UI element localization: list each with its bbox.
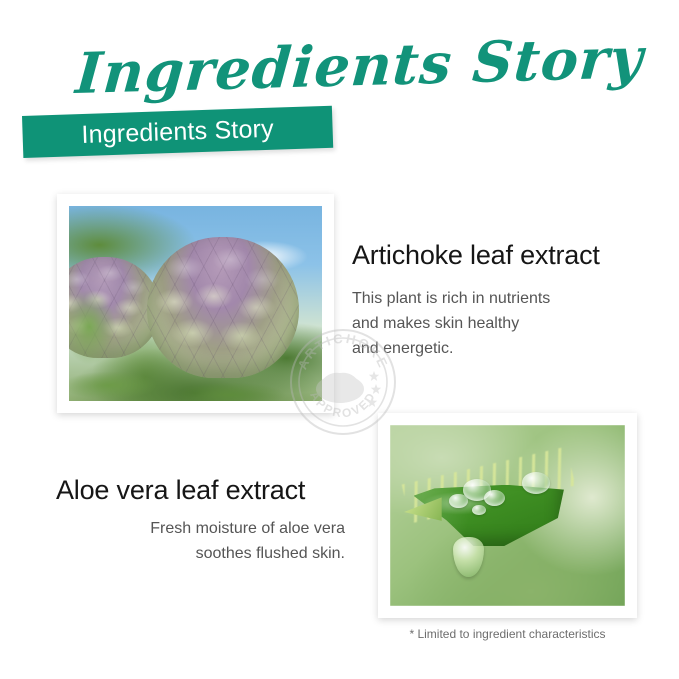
- aloe-photo: [390, 425, 625, 606]
- water-droplet: [449, 494, 468, 508]
- page-title-script: Ingredients Story: [73, 22, 509, 114]
- banner-label: Ingredients Story: [22, 106, 333, 158]
- aloe-heading: Aloe vera leaf extract: [56, 475, 305, 506]
- stamp-star-group: [367, 371, 381, 407]
- artichoke-foreground-leaves: [69, 206, 322, 401]
- artichoke-description: This plant is rich in nutrients and make…: [352, 286, 612, 361]
- water-droplet: [522, 472, 550, 494]
- aloe-description: Fresh moisture of aloe vera soothes flus…: [95, 516, 345, 566]
- artichoke-heading: Artichoke leaf extract: [352, 240, 600, 271]
- footnote-text: * Limited to ingredient characteristics: [378, 627, 637, 641]
- artichoke-photo: [69, 206, 322, 401]
- ingredients-story-banner: Ingredients Story: [22, 106, 333, 158]
- ingredients-story-page: Ingredients Story Ingredients Story Arti…: [0, 0, 679, 679]
- aloe-photo-frame: [378, 413, 637, 618]
- artichoke-photo-frame: [57, 194, 334, 413]
